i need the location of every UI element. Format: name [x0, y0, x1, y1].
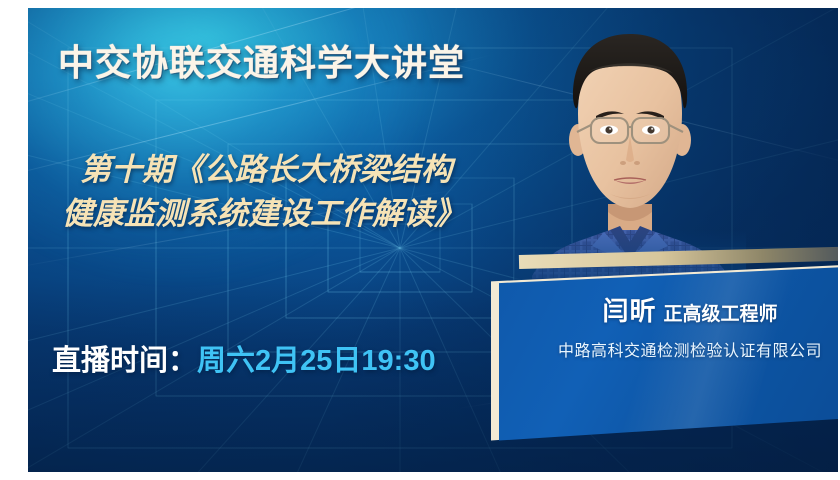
speaker-card-face: 闫昕正高级工程师 中路高科交通检测检验认证有限公司 — [499, 263, 838, 446]
speaker-name-row: 闫昕正高级工程师 — [521, 291, 838, 328]
speaker-card: 闫昕正高级工程师 中路高科交通检测检验认证有限公司 — [491, 261, 838, 446]
subtitle-line-2: 健康监测系统建设工作解读》 — [62, 192, 582, 236]
speaker-name: 闫昕 — [602, 296, 656, 326]
live-time-label: 直播时间： — [52, 345, 197, 377]
live-time-value: 周六2月25日19:30 — [197, 345, 436, 377]
session-subtitle: 第十期《公路长大桥梁结构 健康监测系统建设工作解读》 — [62, 148, 582, 236]
speaker-card-content: 闫昕正高级工程师 中路高科交通检测检验认证有限公司 — [521, 285, 838, 361]
poster-stage: 中交协联交通科学大讲堂 第十期《公路长大桥梁结构 健康监测系统建设工作解读》 直… — [28, 8, 838, 472]
webinar-poster: 中交协联交通科学大讲堂 第十期《公路长大桥梁结构 健康监测系统建设工作解读》 直… — [0, 0, 840, 480]
live-time: 直播时间：周六2月25日19:30 — [52, 337, 436, 379]
speaker-organization: 中路高科交通检测检验认证有限公司 — [521, 337, 838, 361]
page-title: 中交协联交通科学大讲堂 — [58, 34, 465, 86]
subtitle-line-1: 第十期《公路长大桥梁结构 — [62, 148, 582, 192]
speaker-title: 正高级工程师 — [664, 304, 778, 325]
